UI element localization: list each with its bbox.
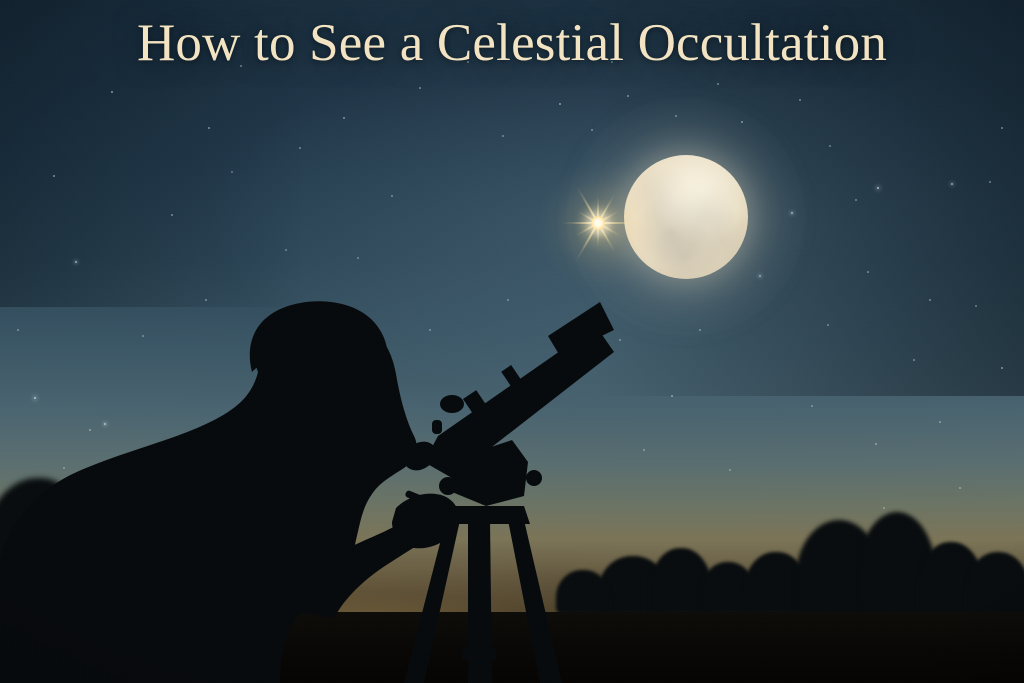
telescope-focus-knob [432,420,442,434]
person-silhouette [0,301,459,683]
page-title: How to See a Celestial Occultation [0,13,1024,73]
person-body-and-head [0,309,417,683]
telescope-finder-scope [440,395,464,413]
mount-azimuth-knob [526,470,542,486]
scene-image: How to See a Celestial Occultation [0,0,1024,683]
silhouette-layer [0,0,1024,683]
tripod-leg-right [508,520,562,683]
telescope-silhouette [399,302,614,683]
mount-altitude-knob [439,477,457,495]
tripod-leg-center [468,520,492,683]
